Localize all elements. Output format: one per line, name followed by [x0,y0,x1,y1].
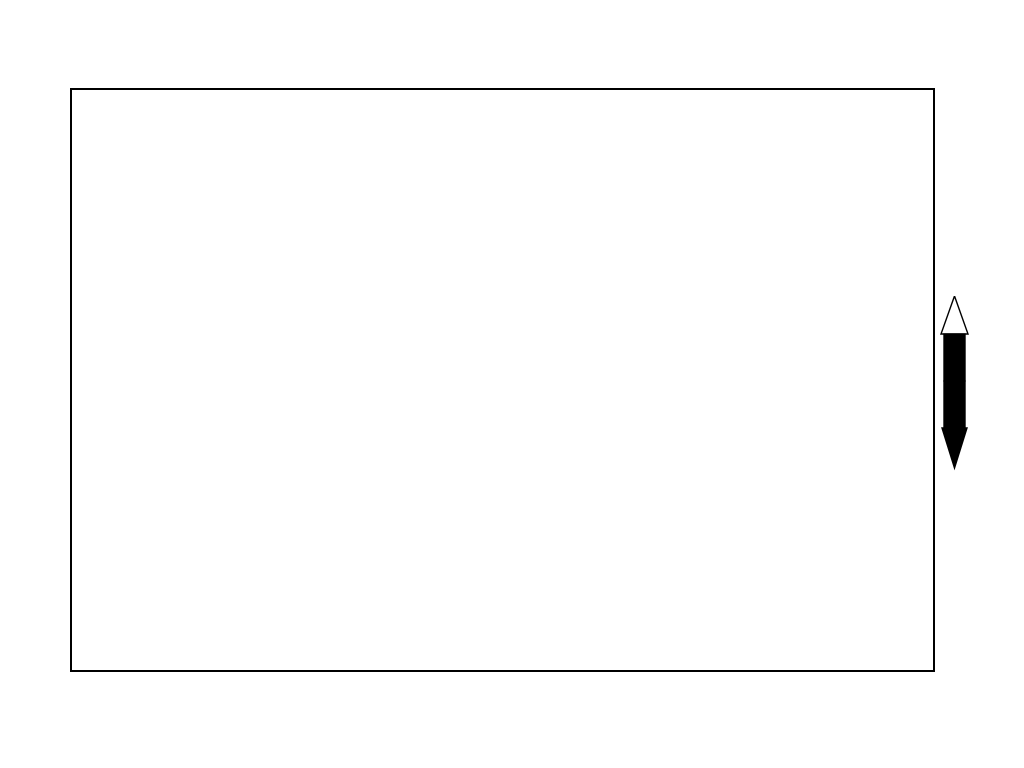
colorbar-band-yellow [944,334,965,381]
colorbar-band-orange [944,381,965,428]
heatmap-canvas [72,90,933,670]
colorbar-extend-bottom-arrow [942,428,967,468]
colorbar-extend-top-arrow [941,296,968,334]
colorbar-legend [940,296,970,475]
plot-area [70,88,935,672]
colorbar-swatches [940,296,970,471]
